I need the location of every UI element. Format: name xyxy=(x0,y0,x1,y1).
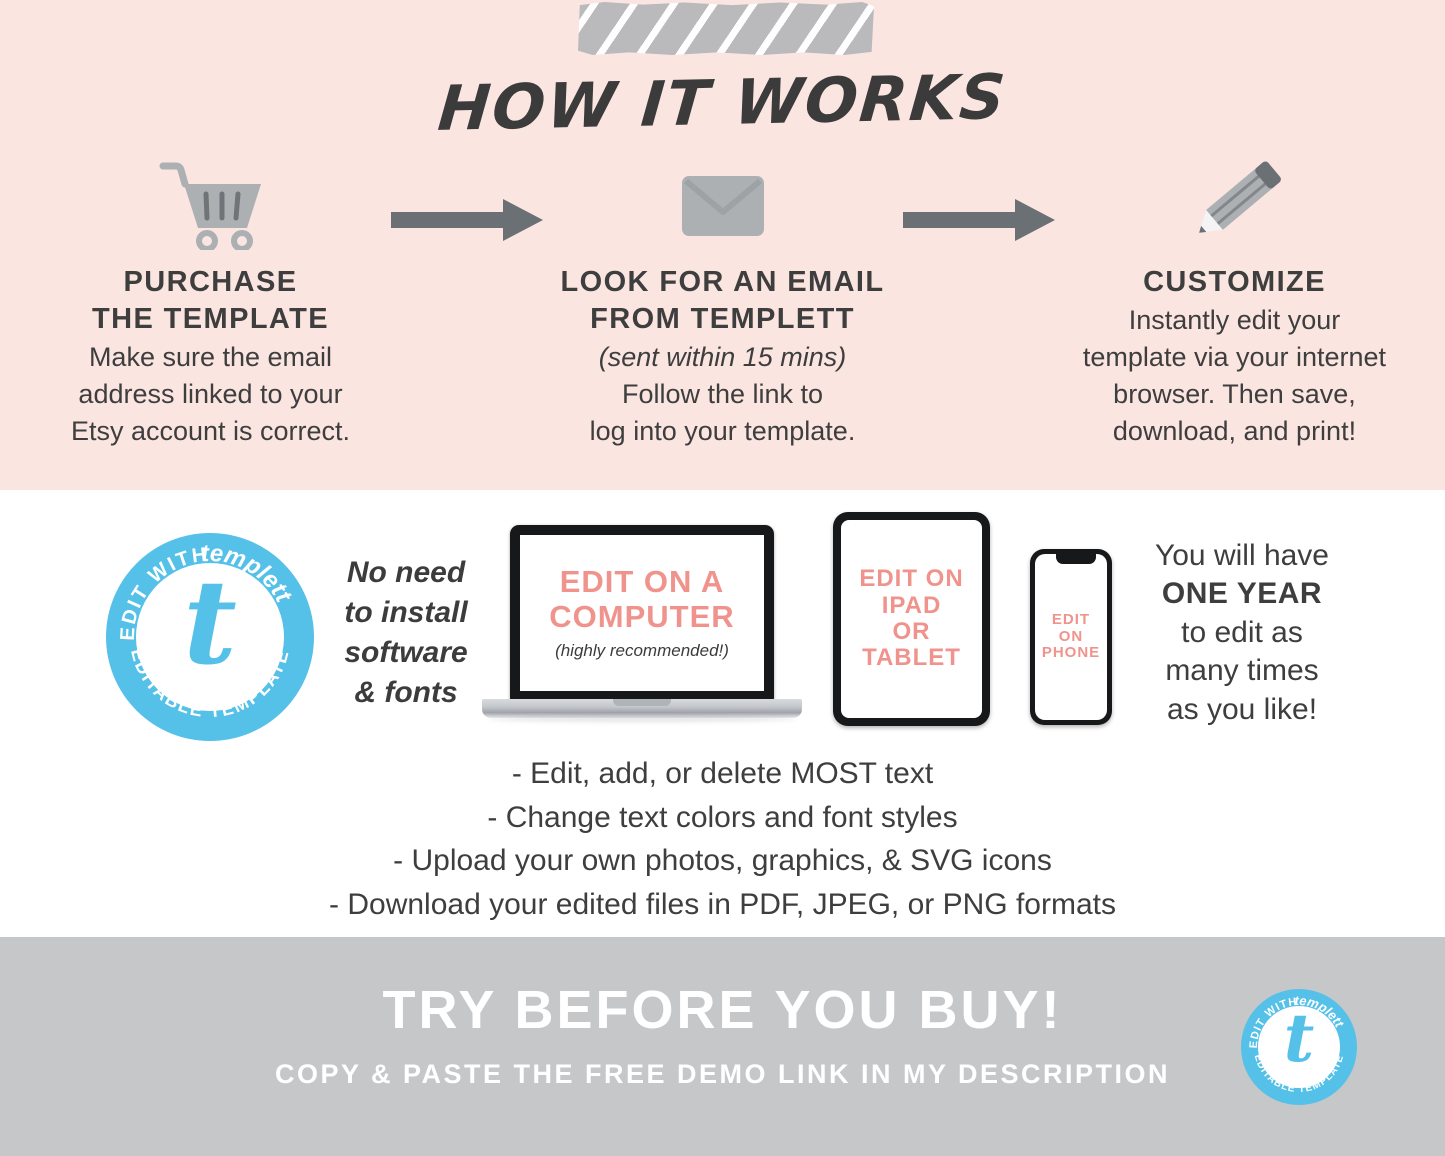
step-title-line1: PURCHASE xyxy=(124,266,298,298)
svg-text:templett: templett xyxy=(1294,993,1347,1030)
laptop-screen-title: EDIT ON A COMPUTER xyxy=(549,565,734,633)
footer-title: TRY BEFORE YOU BUY! xyxy=(0,979,1445,1041)
step-body-line2: Follow the link to xyxy=(622,379,823,409)
step-body-line3: browser. Then save, xyxy=(1113,379,1356,409)
step-purchase: PURCHASE THE TEMPLATE Make sure the emai… xyxy=(35,158,387,450)
tablet-title-line4: TABLET xyxy=(862,644,961,671)
no-install-line3: software xyxy=(344,636,467,669)
shopping-cart-icon xyxy=(35,158,387,250)
one-year-line1: You will have xyxy=(1155,539,1329,572)
step-body-line1: Make sure the email xyxy=(89,342,332,372)
laptop-title-line2: COMPUTER xyxy=(549,599,734,634)
step-body-line3: log into your template. xyxy=(590,416,856,446)
list-item: - Download your edited files in PDF, JPE… xyxy=(0,883,1445,927)
no-install-note: No need to install software & fonts xyxy=(326,553,486,713)
phone-notch xyxy=(1056,554,1096,564)
step-title-line2: THE TEMPLATE xyxy=(92,303,329,335)
laptop-shadow xyxy=(488,716,796,722)
svg-text:EDITABLE TEMPLATE: EDITABLE TEMPLATE xyxy=(127,647,293,722)
step-body-line4: download, and print! xyxy=(1113,416,1356,446)
one-year-line3: to edit as xyxy=(1181,616,1303,649)
step-title: PURCHASE THE TEMPLATE xyxy=(35,264,387,338)
templett-badge-small: t EDIT WITH templett EDITABLE TEMPLATE xyxy=(1241,989,1357,1105)
step-customize: CUSTOMIZE Instantly edit your template v… xyxy=(1059,158,1411,450)
no-install-line2: to install xyxy=(344,596,467,629)
tablet-title-line2: IPAD xyxy=(882,592,942,619)
list-item: - Change text colors and font styles xyxy=(0,796,1445,840)
step-title: LOOK FOR AN EMAIL FROM TEMPLETT xyxy=(547,264,899,338)
step-body-line1: Instantly edit your xyxy=(1129,305,1341,335)
phone-screen: EDIT ON PHONE xyxy=(1035,554,1107,720)
arrow-1 xyxy=(387,158,547,244)
step-body-line3: Etsy account is correct. xyxy=(71,416,350,446)
one-year-highlight: ONE YEAR xyxy=(1162,577,1322,610)
step-title-line1: CUSTOMIZE xyxy=(1143,266,1326,298)
step-body: (sent within 15 mins) Follow the link to… xyxy=(547,339,899,450)
laptop-lid: EDIT ON A COMPUTER (highly recommended!) xyxy=(510,525,774,701)
svg-text:EDIT WITH: EDIT WITH xyxy=(117,544,210,641)
arrow-2 xyxy=(899,158,1059,244)
one-year-line4: many times xyxy=(1165,654,1318,687)
page-title: HOW IT WORKS xyxy=(0,51,1445,154)
phone-title-line2: ON xyxy=(1059,628,1084,645)
arrow-right-icon xyxy=(391,196,543,244)
svg-text:EDITABLE TEMPLATE: EDITABLE TEMPLATE xyxy=(1252,1053,1346,1095)
tablet-title-line1: EDIT ON xyxy=(859,565,963,592)
phone-title-line3: PHONE xyxy=(1042,644,1100,661)
step-body: Instantly edit your template via your in… xyxy=(1059,302,1411,450)
tablet-screen: EDIT ON IPAD OR TABLET xyxy=(841,520,982,718)
feature-list: - Edit, add, or delete MOST text - Chang… xyxy=(0,752,1445,926)
step-title-line1: LOOK FOR AN EMAIL xyxy=(561,266,885,298)
list-item: - Edit, add, or delete MOST text xyxy=(0,752,1445,796)
laptop-base-notch xyxy=(613,699,671,706)
one-year-line5: as you like! xyxy=(1167,693,1317,726)
step-body-line2: template via your internet xyxy=(1083,342,1386,372)
how-it-works-infographic: HOW IT WORKS xyxy=(0,0,1445,1156)
arrow-right-icon xyxy=(903,196,1055,244)
badge-arched-text: EDIT WITH templett EDITABLE TEMPLATE xyxy=(1241,989,1357,1105)
one-year-note: You will have ONE YEAR to edit as many t… xyxy=(1122,537,1362,729)
phone-title-line1: EDIT xyxy=(1052,611,1090,628)
tablet-screen-title: EDIT ON IPAD OR TABLET xyxy=(859,566,963,672)
washi-tape-decoration xyxy=(578,2,874,55)
tablet-mockup: EDIT ON IPAD OR TABLET xyxy=(833,512,990,726)
list-item: - Upload your own photos, graphics, & SV… xyxy=(0,839,1445,883)
step-title: CUSTOMIZE xyxy=(1059,264,1411,301)
footer-banner: TRY BEFORE YOU BUY! COPY & PASTE THE FRE… xyxy=(0,937,1445,1156)
svg-text:EDIT WITH: EDIT WITH xyxy=(1248,996,1298,1049)
step-look-for-email: LOOK FOR AN EMAIL FROM TEMPLETT (sent wi… xyxy=(547,158,899,450)
svg-text:templett: templett xyxy=(200,540,297,608)
envelope-icon xyxy=(547,158,899,250)
no-install-line1: No need xyxy=(347,556,465,589)
step-title-line2: FROM TEMPLETT xyxy=(590,303,855,335)
phone-screen-title: EDIT ON PHONE xyxy=(1042,612,1100,662)
step-body-line2: address linked to your xyxy=(78,379,342,409)
laptop-screen-subtitle: (highly recommended!) xyxy=(555,641,729,661)
badge-arched-text: EDIT WITH templett EDITABLE TEMPLATE xyxy=(106,533,314,741)
laptop-screen: EDIT ON A COMPUTER (highly recommended!) xyxy=(520,535,764,691)
phone-mockup: EDIT ON PHONE xyxy=(1030,549,1112,725)
step-body: Make sure the email address linked to yo… xyxy=(35,339,387,450)
laptop-title-line1: EDIT ON A xyxy=(560,564,725,599)
steps-row: PURCHASE THE TEMPLATE Make sure the emai… xyxy=(0,158,1445,450)
tablet-title-line3: OR xyxy=(893,618,931,645)
hero-section: HOW IT WORKS xyxy=(0,0,1445,490)
templett-badge-large: t EDIT WITH templett EDITABLE TEMPLATE xyxy=(106,533,314,741)
pencil-icon xyxy=(1059,158,1411,250)
step-body-italic: (sent within 15 mins) xyxy=(547,339,899,376)
no-install-line4: & fonts xyxy=(354,676,457,709)
laptop-mockup: EDIT ON A COMPUTER (highly recommended!) xyxy=(482,525,802,730)
footer-subtitle: COPY & PASTE THE FREE DEMO LINK IN MY DE… xyxy=(0,1059,1445,1090)
